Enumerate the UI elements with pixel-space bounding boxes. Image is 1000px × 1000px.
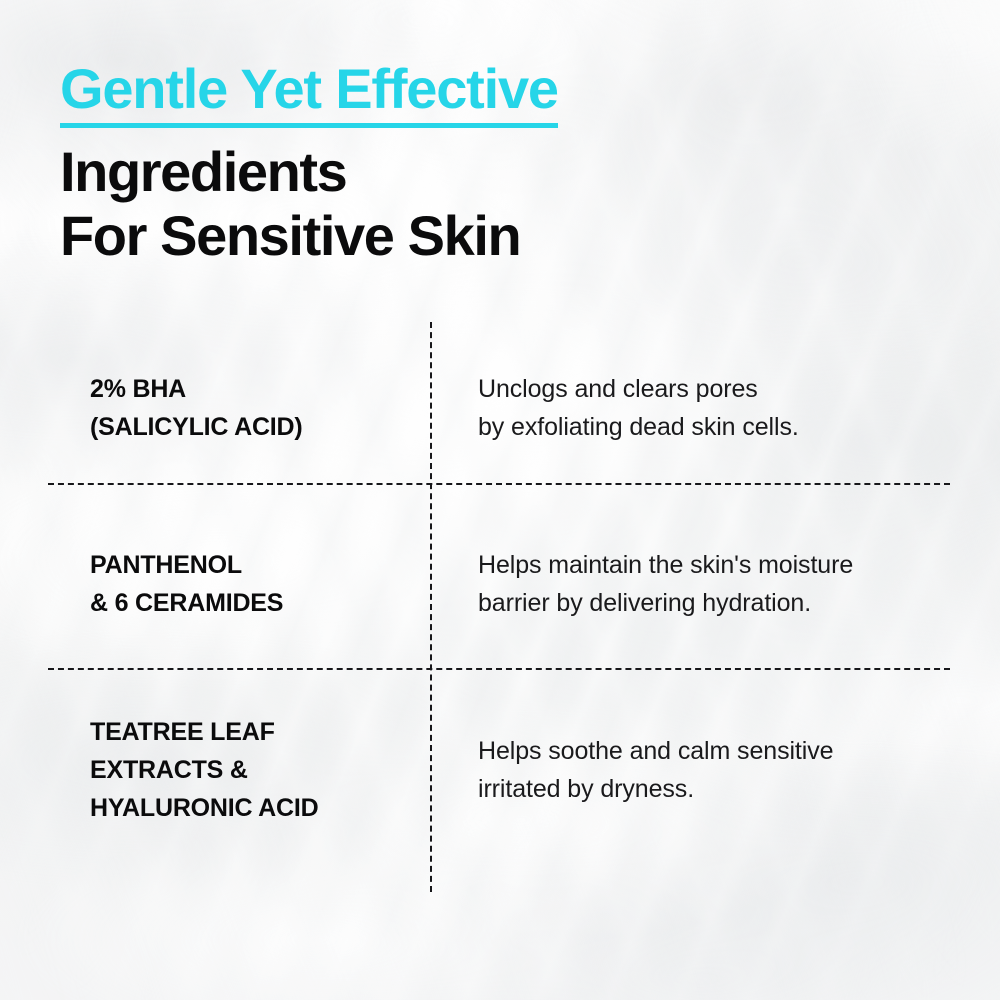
- ingredient-description-line: irritated by dryness.: [478, 770, 952, 808]
- ingredient-description-line: barrier by delivering hydration.: [478, 584, 952, 622]
- table-row: TEATREE LEAF EXTRACTS & HYALURONIC ACID …: [48, 700, 952, 840]
- ingredient-name-cell: 2% BHA (SALICYLIC ACID): [48, 370, 430, 446]
- table-row: 2% BHA (SALICYLIC ACID) Unclogs and clea…: [48, 344, 952, 472]
- ingredient-name-line: HYALURONIC ACID: [90, 789, 430, 827]
- ingredient-name-line: TEATREE LEAF: [90, 713, 430, 751]
- headline-main-line-2: For Sensitive Skin: [60, 204, 940, 268]
- ingredient-description-cell: Helps maintain the skin's moisture barri…: [430, 546, 952, 622]
- ingredient-name-line: 2% BHA: [90, 370, 430, 408]
- ingredient-description-line: Unclogs and clears pores: [478, 370, 952, 408]
- headline-main: Ingredients For Sensitive Skin: [60, 140, 940, 268]
- table-row: PANTHENOL & 6 CERAMIDES Helps maintain t…: [48, 518, 952, 650]
- headline-main-line-1: Ingredients: [60, 140, 940, 204]
- ingredient-name-line: EXTRACTS &: [90, 751, 430, 789]
- headline-accent-underlined: Gentle Yet Effective: [60, 58, 558, 128]
- page-title: Gentle Yet Effective Ingredients For Sen…: [60, 58, 940, 268]
- horizontal-dashed-divider-2: [48, 668, 950, 670]
- ingredient-name-cell: TEATREE LEAF EXTRACTS & HYALURONIC ACID: [48, 713, 430, 827]
- infographic-canvas: Gentle Yet Effective Ingredients For Sen…: [0, 0, 1000, 1000]
- ingredient-description-line: Helps maintain the skin's moisture: [478, 546, 952, 584]
- ingredient-description-line: by exfoliating dead skin cells.: [478, 408, 952, 446]
- ingredient-description-cell: Unclogs and clears pores by exfoliating …: [430, 370, 952, 446]
- ingredient-name-line: (SALICYLIC ACID): [90, 408, 430, 446]
- ingredient-name-line: & 6 CERAMIDES: [90, 584, 430, 622]
- ingredient-name-cell: PANTHENOL & 6 CERAMIDES: [48, 546, 430, 622]
- ingredient-name-line: PANTHENOL: [90, 546, 430, 584]
- ingredients-table: 2% BHA (SALICYLIC ACID) Unclogs and clea…: [48, 322, 952, 892]
- ingredient-description-line: Helps soothe and calm sensitive: [478, 732, 952, 770]
- ingredient-description-cell: Helps soothe and calm sensitive irritate…: [430, 732, 952, 808]
- horizontal-dashed-divider-1: [48, 483, 950, 485]
